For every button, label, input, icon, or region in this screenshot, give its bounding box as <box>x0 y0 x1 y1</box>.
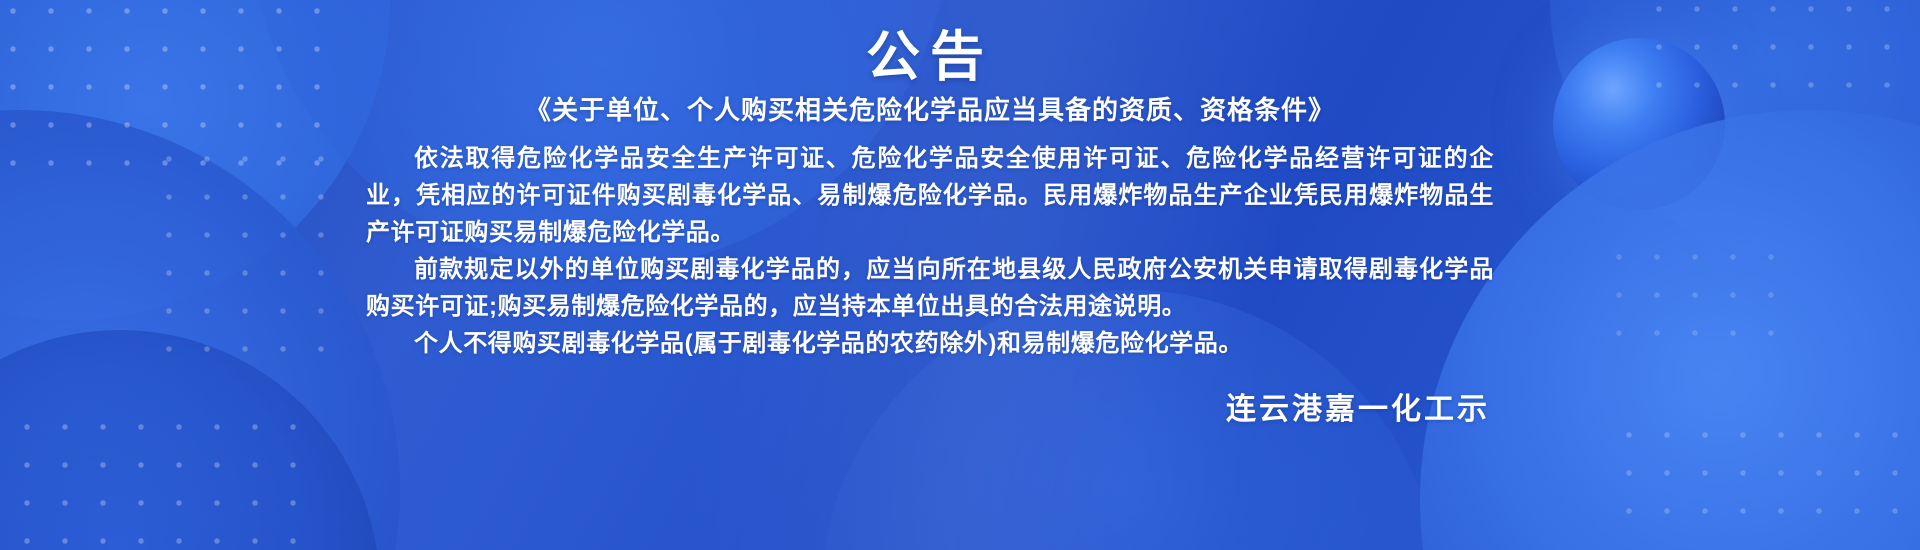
announcement-signature: 连云港嘉一化工示 <box>270 384 1590 428</box>
announcement-subtitle: 《关于单位、个人购买相关危险化学品应当具备的资质、资格条件》 <box>270 94 1590 128</box>
announcement-paragraph-2: 前款规定以外的单位购买剧毒化学品的，应当向所在地县级人民政府公安机关申请取得剧毒… <box>366 251 1494 325</box>
announcement-paragraph-3: 个人不得购买剧毒化学品(属于剧毒化学品的农药除外)和易制爆危险化学品。 <box>366 325 1494 362</box>
announcement-title: 公告 <box>270 26 1590 88</box>
announcement-banner: 公告 《关于单位、个人购买相关危险化学品应当具备的资质、资格条件》 依法取得危险… <box>0 0 1920 550</box>
announcement-content: 公告 《关于单位、个人购买相关危险化学品应当具备的资质、资格条件》 依法取得危险… <box>0 0 1920 550</box>
announcement-paragraph-1: 依法取得危险化学品安全生产许可证、危险化学品安全使用许可证、危险化学品经营许可证… <box>366 140 1494 251</box>
